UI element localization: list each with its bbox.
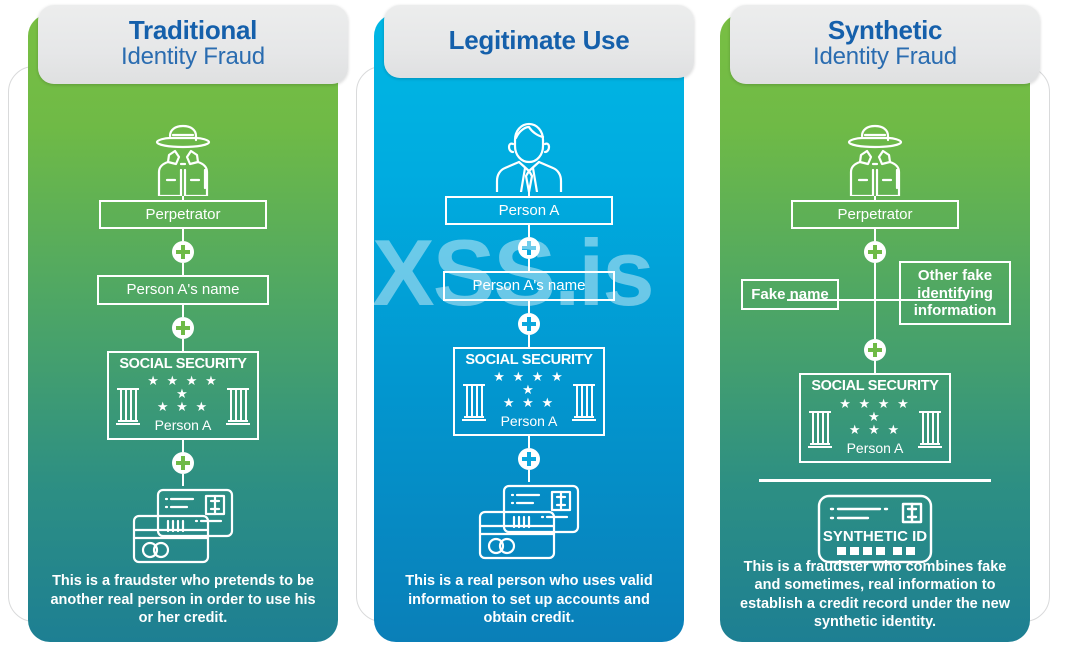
connector-line <box>874 229 876 241</box>
connector-line <box>528 259 530 271</box>
ssn-stars-line2: ★ ★ ★ <box>833 423 917 438</box>
connector-line <box>182 339 184 351</box>
connector-line <box>182 229 184 241</box>
ssn-stars-line2: ★ ★ ★ <box>141 400 225 415</box>
connector-line <box>528 225 530 237</box>
pillar-icon <box>461 377 487 423</box>
plus-node-icon <box>518 448 540 470</box>
plus-node-icon <box>864 241 886 263</box>
person-suit-icon <box>483 114 575 192</box>
social-security-card: SOCIAL SECURITY ★ ★ ★ ★ ★ ★ ★ ★ Person A <box>107 351 259 441</box>
node-box-person-a-name: Person A's name <box>97 275 269 304</box>
connector-line <box>182 305 184 317</box>
connector-line <box>874 299 876 339</box>
pillar-icon <box>225 381 251 427</box>
ssn-card-title: SOCIAL SECURITY <box>115 357 251 373</box>
ssn-card-title: SOCIAL SECURITY <box>461 353 597 369</box>
plus-node-icon <box>172 452 194 474</box>
ssn-card-name: Person A <box>487 413 571 429</box>
flow-traditional: Perpetrator Person A's name SOCIAL SECUR… <box>28 118 338 570</box>
node-box-perpetrator: Perpetrator <box>99 200 267 229</box>
connector-line <box>528 301 530 313</box>
node-box-person-a-name: Person A's name <box>443 271 615 300</box>
connector-line <box>528 470 530 482</box>
header-title-line1: Synthetic <box>740 17 1030 44</box>
ssn-card-name: Person A <box>833 440 917 456</box>
social-security-card: SOCIAL SECURITY ★ ★ ★ ★ ★ ★ ★ ★ Person A <box>799 373 951 463</box>
connector-line <box>182 440 184 452</box>
header-title-line1: Legitimate Use <box>394 27 684 54</box>
ssn-stars-line1: ★ ★ ★ ★ ★ <box>141 374 225 400</box>
ssn-stars-line1: ★ ★ ★ ★ ★ <box>833 397 917 423</box>
pillar-icon <box>807 404 833 450</box>
flow-legitimate: Person A Person A's name SOCIAL SECURITY… <box>374 114 684 566</box>
flow-synthetic: Perpetrator Fake name Other fake identif… <box>720 118 1030 566</box>
node-box-other-fake-info: Other fake identifying information <box>899 261 1011 325</box>
credit-card-and-id-icon <box>128 486 238 570</box>
connector-line <box>528 335 530 347</box>
header-title-line1: Traditional <box>48 17 338 44</box>
pillar-icon <box>115 381 141 427</box>
column-legitimate-use: Legitimate Use Person A <box>374 14 684 642</box>
connector-line <box>874 263 876 299</box>
connector-line <box>182 263 184 275</box>
ssn-stars-line1: ★ ★ ★ ★ ★ <box>487 370 571 396</box>
credit-card-and-id-icon <box>474 482 584 566</box>
caption-legitimate: This is a real person who uses valid inf… <box>390 572 668 628</box>
header-title-line2: Identity Fraud <box>740 44 1030 71</box>
perpetrator-fedora-icon <box>829 118 921 196</box>
section-divider <box>759 479 991 482</box>
infographic-canvas: Traditional Identity Fraud P <box>0 0 1070 650</box>
node-box-person-a: Person A <box>445 196 613 225</box>
branch-fake-identity-row: Fake name Other fake identifying informa… <box>735 263 1015 339</box>
connector-line <box>528 436 530 448</box>
social-security-card: SOCIAL SECURITY ★ ★ ★ ★ ★ ★ ★ ★ Person A <box>453 347 605 437</box>
pillar-icon <box>917 404 943 450</box>
column-traditional-identity-fraud: Traditional Identity Fraud P <box>28 14 338 642</box>
plus-node-icon <box>518 313 540 335</box>
caption-traditional: This is a fraudster who pretends to be a… <box>44 572 322 628</box>
header-card-legitimate: Legitimate Use <box>384 5 694 78</box>
ssn-stars-line2: ★ ★ ★ <box>487 396 571 411</box>
synthetic-id-card-icon: SYNTHETIC ID <box>815 492 935 566</box>
plus-node-icon <box>518 237 540 259</box>
plus-node-icon <box>172 317 194 339</box>
plus-node-icon <box>172 241 194 263</box>
synthetic-id-label: SYNTHETIC ID <box>823 528 927 545</box>
header-card-synthetic: Synthetic Identity Fraud <box>730 5 1040 84</box>
column-synthetic-identity-fraud: Synthetic Identity Fraud Per <box>720 14 1030 642</box>
perpetrator-fedora-icon <box>137 118 229 196</box>
ssn-card-title: SOCIAL SECURITY <box>807 379 943 395</box>
pillar-icon <box>571 377 597 423</box>
ssn-card-name: Person A <box>141 417 225 433</box>
plus-node-icon <box>864 339 886 361</box>
caption-synthetic: This is a fraudster who combines fake an… <box>736 558 1014 632</box>
connector-line <box>874 361 876 373</box>
header-title-line2: Identity Fraud <box>48 44 338 71</box>
header-card-traditional: Traditional Identity Fraud <box>38 5 348 84</box>
node-box-perpetrator: Perpetrator <box>791 200 959 229</box>
connector-line <box>182 474 184 486</box>
node-box-fake-name: Fake name <box>741 279 839 310</box>
